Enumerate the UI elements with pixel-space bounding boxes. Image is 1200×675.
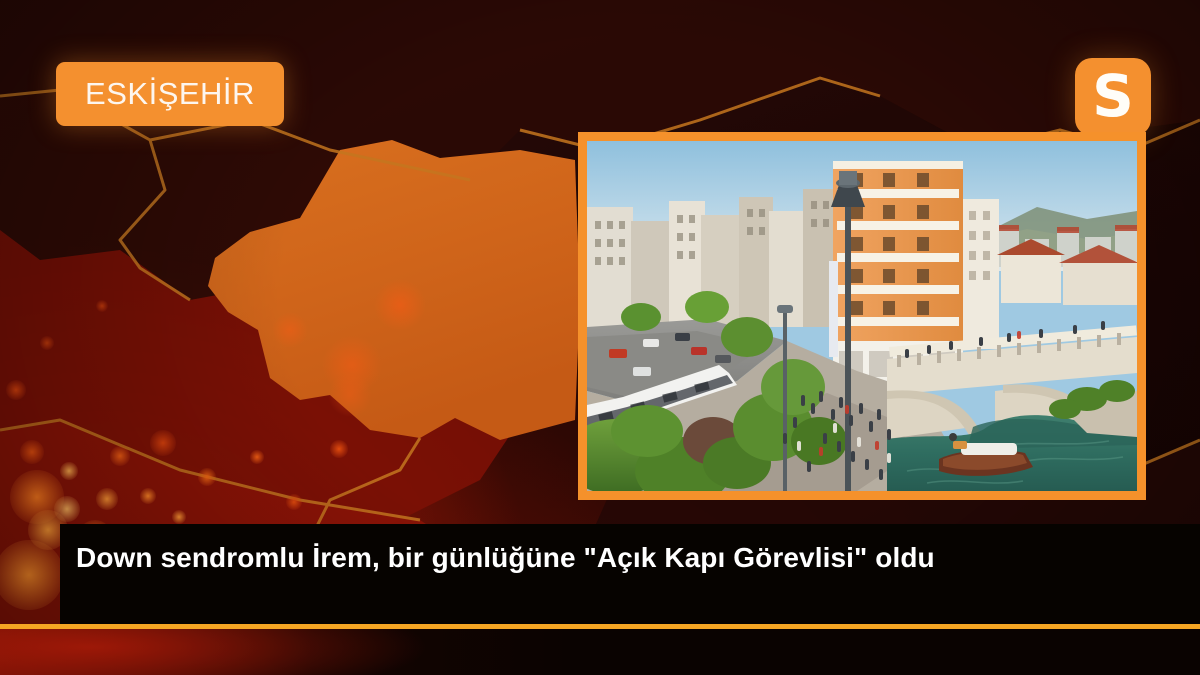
location-badge[interactable]: ESKİŞEHİR <box>56 62 284 126</box>
news-photo-frame[interactable] <box>578 132 1146 500</box>
brand-logo-icon[interactable]: S <box>1075 58 1151 136</box>
news-card: ESKİŞEHİR S <box>0 0 1200 675</box>
page-title: Down sendromlu İrem, bir günlüğüne "Açık… <box>76 538 1174 578</box>
accent-divider <box>0 624 1200 629</box>
location-badge-label: ESKİŞEHİR <box>85 76 255 112</box>
news-photo <box>587 141 1137 491</box>
brand-logo-letter: S <box>1092 67 1134 125</box>
bottom-strip-texture <box>0 629 1200 675</box>
bottom-strip <box>0 629 1200 675</box>
headline-bar: Down sendromlu İrem, bir günlüğüne "Açık… <box>60 524 1200 628</box>
cityscape-illustration <box>587 141 1137 491</box>
